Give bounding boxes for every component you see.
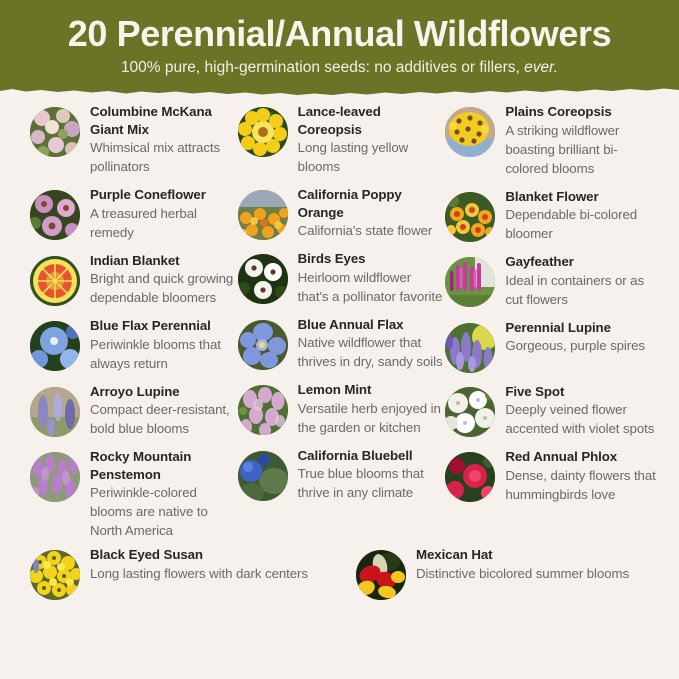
flower-list-area: Columbine McKana Giant Mix Whimsical mix… <box>0 99 679 600</box>
flower-description: Distinctive bicolored summer blooms <box>416 564 657 583</box>
flower-name: Gayfeather <box>505 253 657 271</box>
entry-text: Plains Coreopsis A striking wildflower b… <box>499 103 657 178</box>
thumbnail-wrapper <box>356 546 410 600</box>
page-subtitle: 100% pure, high-germination seeds: no ad… <box>0 58 679 78</box>
list-item[interactable]: Arroyo Lupine Compact deer-resistant, bo… <box>30 383 238 439</box>
flower-description: Bright and quick growing dependable bloo… <box>90 269 238 307</box>
thumbnail-wrapper <box>238 447 292 501</box>
thumbnail-wrapper <box>238 381 292 435</box>
thumbnail-wrapper <box>238 316 292 370</box>
entry-text: Rocky Mountain Penstemon Periwinkle-colo… <box>84 448 238 540</box>
flower-column-2: Lance-leaved Coreopsis Long lasting yell… <box>238 103 446 550</box>
list-item[interactable]: Lemon Mint Versatile herb enjoyed in the… <box>238 381 446 437</box>
flower-description: A treasured herbal remedy <box>90 204 238 242</box>
flower-columns: Columbine McKana Giant Mix Whimsical mix… <box>0 103 679 550</box>
thumbnail-wrapper <box>238 103 292 157</box>
flower-name: Red Annual Phlox <box>505 448 657 466</box>
flower-description: Compact deer-resistant, bold blue blooms <box>90 400 238 438</box>
thumbnail-wrapper <box>445 188 499 242</box>
thumbnail-wrapper <box>30 103 84 157</box>
list-item[interactable]: Purple Coneflower A treasured herbal rem… <box>30 186 238 242</box>
flower-description: Heirloom wildflower that's a pollinator … <box>298 268 446 306</box>
list-item[interactable]: Blue Flax Perennial Periwinkle blooms th… <box>30 317 238 373</box>
page-title: 20 Perennial/Annual Wildflowers <box>0 12 679 56</box>
entry-text: Gayfeather Ideal in containers or as cut… <box>499 253 657 309</box>
list-item[interactable]: Mexican Hat Distinctive bicolored summer… <box>350 546 657 600</box>
flower-description: California's state flower <box>298 221 446 240</box>
entry-text: Perennial Lupine Gorgeous, purple spires <box>499 319 657 356</box>
flower-description: Dense, dainty flowers that hummingbirds … <box>505 466 657 504</box>
header-banner: 20 Perennial/Annual Wildflowers 100% pur… <box>0 0 679 99</box>
flower-description: True blue blooms that thrive in any clim… <box>298 464 446 502</box>
list-item[interactable]: Five Spot Deeply veined flower accented … <box>445 383 657 439</box>
list-item[interactable]: Blanket Flower Dependable bi-colored blo… <box>445 188 657 244</box>
flower-description: Versatile herb enjoyed in the garden or … <box>298 399 446 437</box>
red-annual-phlox-thumbnail <box>445 452 495 502</box>
flower-name: Perennial Lupine <box>505 319 657 337</box>
plains-coreopsis-thumbnail <box>445 107 495 157</box>
blue-annual-flax-thumbnail <box>238 320 288 370</box>
flower-name: California Bluebell <box>298 447 446 465</box>
arroyo-lupine-thumbnail <box>30 387 80 437</box>
mexican-hat-thumbnail <box>356 550 406 600</box>
entry-text: Blanket Flower Dependable bi-colored blo… <box>499 188 657 244</box>
thumbnail-wrapper <box>445 253 499 307</box>
entry-text: Lance-leaved Coreopsis Long lasting yell… <box>292 103 446 176</box>
list-item[interactable]: Lance-leaved Coreopsis Long lasting yell… <box>238 103 446 176</box>
flower-name: California Poppy Orange <box>298 186 446 221</box>
list-item[interactable]: Indian Blanket Bright and quick growing … <box>30 252 238 308</box>
flower-column-1: Columbine McKana Giant Mix Whimsical mix… <box>30 103 238 550</box>
entry-text: Mexican Hat Distinctive bicolored summer… <box>410 546 657 583</box>
flower-description: Periwinkle-colored blooms are native to … <box>90 483 238 540</box>
list-item[interactable]: California Bluebell True blue blooms tha… <box>238 447 446 503</box>
flower-description: Ideal in containers or as cut flowers <box>505 271 657 309</box>
flower-name: Five Spot <box>505 383 657 401</box>
flower-name: Purple Coneflower <box>90 186 238 204</box>
thumbnail-wrapper <box>445 103 499 157</box>
lance-leaved-coreopsis-thumbnail <box>238 107 288 157</box>
subtitle-emphasis-text: ever. <box>524 59 558 76</box>
rocky-mountain-penstemon-thumbnail <box>30 452 80 502</box>
thumbnail-wrapper <box>30 383 84 437</box>
perennial-lupine-thumbnail <box>445 323 495 373</box>
flower-name: Lance-leaved Coreopsis <box>298 103 446 138</box>
subtitle-main-text: 100% pure, high-germination seeds: no ad… <box>121 59 520 76</box>
flower-name: Lemon Mint <box>298 381 446 399</box>
flower-description: Long lasting yellow blooms <box>298 138 446 176</box>
flower-column-3: Plains Coreopsis A striking wildflower b… <box>445 103 657 550</box>
birds-eyes-thumbnail <box>238 254 288 304</box>
thumbnail-wrapper <box>30 546 84 600</box>
thumbnail-wrapper <box>30 448 84 502</box>
flower-name: Plains Coreopsis <box>505 103 657 121</box>
entry-text: Purple Coneflower A treasured herbal rem… <box>84 186 238 242</box>
blue-flax-perennial-thumbnail <box>30 321 80 371</box>
flower-name: Columbine McKana Giant Mix <box>90 103 238 138</box>
footer-column-2: Mexican Hat Distinctive bicolored summer… <box>350 546 657 600</box>
torn-paper-edge <box>0 78 679 99</box>
gayfeather-thumbnail <box>445 257 495 307</box>
thumbnail-wrapper <box>445 383 499 437</box>
list-item[interactable]: Rocky Mountain Penstemon Periwinkle-colo… <box>30 448 238 540</box>
flower-description: Whimsical mix attracts pollinators <box>90 138 238 176</box>
entry-text: Black Eyed Susan Long lasting flowers wi… <box>84 546 350 583</box>
entry-text: Columbine McKana Giant Mix Whimsical mix… <box>84 103 238 176</box>
purple-coneflower-thumbnail <box>30 190 80 240</box>
list-item[interactable]: Black Eyed Susan Long lasting flowers wi… <box>30 546 350 600</box>
list-item[interactable]: Red Annual Phlox Dense, dainty flowers t… <box>445 448 657 504</box>
footer-flower-row: Black Eyed Susan Long lasting flowers wi… <box>0 546 679 600</box>
flower-name: Blue Annual Flax <box>298 316 446 334</box>
entry-text: Blue Flax Perennial Periwinkle blooms th… <box>84 317 238 373</box>
entry-text: Five Spot Deeply veined flower accented … <box>499 383 657 439</box>
list-item[interactable]: Gayfeather Ideal in containers or as cut… <box>445 253 657 309</box>
flower-name: Arroyo Lupine <box>90 383 238 401</box>
wildflower-seed-infographic: 20 Perennial/Annual Wildflowers 100% pur… <box>0 0 679 679</box>
thumbnail-wrapper <box>30 186 84 240</box>
thumbnail-wrapper <box>445 319 499 373</box>
flower-name: Birds Eyes <box>298 250 446 268</box>
lemon-mint-thumbnail <box>238 385 288 435</box>
footer-column-1: Black Eyed Susan Long lasting flowers wi… <box>30 546 350 600</box>
flower-description: Periwinkle blooms that always return <box>90 335 238 373</box>
thumbnail-wrapper <box>238 250 292 304</box>
thumbnail-wrapper <box>30 252 84 306</box>
list-item[interactable]: Columbine McKana Giant Mix Whimsical mix… <box>30 103 238 176</box>
flower-description: Native wildflower that thrives in dry, s… <box>298 333 446 371</box>
entry-text: California Bluebell True blue blooms tha… <box>292 447 446 503</box>
list-item[interactable]: California Poppy Orange California's sta… <box>238 186 446 240</box>
entry-text: Indian Blanket Bright and quick growing … <box>84 252 238 308</box>
indian-blanket-thumbnail <box>30 256 80 306</box>
thumbnail-wrapper <box>30 317 84 371</box>
flower-name: Rocky Mountain Penstemon <box>90 448 238 483</box>
california-bluebell-thumbnail <box>238 451 288 501</box>
flower-name: Mexican Hat <box>416 546 657 564</box>
black-eyed-susan-thumbnail <box>30 550 80 600</box>
five-spot-thumbnail <box>445 387 495 437</box>
entry-text: Birds Eyes Heirloom wildflower that's a … <box>292 250 446 306</box>
list-item[interactable]: Perennial Lupine Gorgeous, purple spires <box>445 319 657 373</box>
thumbnail-wrapper <box>445 448 499 502</box>
flower-description: Dependable bi-colored bloomer <box>505 205 657 243</box>
flower-description: Gorgeous, purple spires <box>505 336 657 355</box>
entry-text: Lemon Mint Versatile herb enjoyed in the… <box>292 381 446 437</box>
columbine-mckana-giant-mix-thumbnail <box>30 107 80 157</box>
entry-text: Blue Annual Flax Native wildflower that … <box>292 316 446 372</box>
flower-name: Black Eyed Susan <box>90 546 350 564</box>
list-item[interactable]: Plains Coreopsis A striking wildflower b… <box>445 103 657 178</box>
entry-text: Red Annual Phlox Dense, dainty flowers t… <box>499 448 657 504</box>
entry-text: Arroyo Lupine Compact deer-resistant, bo… <box>84 383 238 439</box>
blanket-flower-thumbnail <box>445 192 495 242</box>
thumbnail-wrapper <box>238 186 292 240</box>
entry-text: California Poppy Orange California's sta… <box>292 186 446 240</box>
flower-name: Indian Blanket <box>90 252 238 270</box>
flower-description: Long lasting flowers with dark centers <box>90 564 350 583</box>
flower-name: Blanket Flower <box>505 188 657 206</box>
flower-name: Blue Flax Perennial <box>90 317 238 335</box>
list-item[interactable]: Birds Eyes Heirloom wildflower that's a … <box>238 250 446 306</box>
flower-description: Deeply veined flower accented with viole… <box>505 400 657 438</box>
california-poppy-orange-thumbnail <box>238 190 288 240</box>
flower-description: A striking wildflower boasting brilliant… <box>505 121 657 178</box>
list-item[interactable]: Blue Annual Flax Native wildflower that … <box>238 316 446 372</box>
